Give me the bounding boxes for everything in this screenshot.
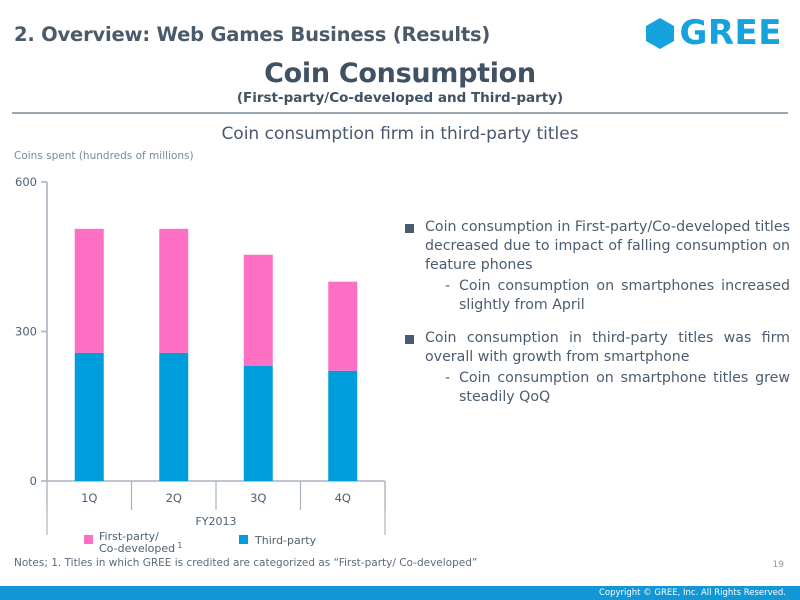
sub-bullet-item: - Coin consumption on smartphone titles … <box>445 369 790 407</box>
svg-text:600: 600 <box>15 175 37 189</box>
footnote-text: Notes; 1. Titles in which GREE is credit… <box>14 557 477 569</box>
hexagon-icon <box>645 17 675 50</box>
bullet-group-2: Coin consumption in third-party titles w… <box>405 329 790 407</box>
coin-consumption-chart: 03006001Q2Q3Q4QFY2013First-party/Co-deve… <box>0 0 420 560</box>
dash-bullet-icon: - <box>445 277 459 296</box>
square-bullet-icon <box>405 224 414 233</box>
copyright-text: Copyright © GREE, Inc. All Rights Reserv… <box>599 588 786 599</box>
svg-text:1Q: 1Q <box>81 491 97 505</box>
bullet-list: Coin consumption in First-party/Co-devel… <box>405 218 790 421</box>
copyright-bar: Copyright © GREE, Inc. All Rights Reserv… <box>0 586 800 600</box>
page-number: 19 <box>773 560 784 570</box>
bullet-item: Coin consumption in third-party titles w… <box>405 329 790 367</box>
sub-bullet-text: Coin consumption on smartphones increase… <box>459 277 790 315</box>
svg-text:3Q: 3Q <box>250 491 266 505</box>
square-bullet-icon <box>405 335 414 344</box>
gree-logo: GREE <box>645 16 782 50</box>
sub-bullet-text: Coin consumption on smartphone titles gr… <box>459 369 790 407</box>
svg-text:0: 0 <box>30 474 37 488</box>
svg-text:Co-developed 1: Co-developed 1 <box>99 541 183 555</box>
svg-text:300: 300 <box>15 325 37 339</box>
bullet-group-1: Coin consumption in First-party/Co-devel… <box>405 218 790 315</box>
bullet-text: Coin consumption in third-party titles w… <box>425 329 790 367</box>
slide: 2. Overview: Web Games Business (Results… <box>0 0 800 600</box>
sub-bullet-item: - Coin consumption on smartphones increa… <box>445 277 790 315</box>
bullet-text: Coin consumption in First-party/Co-devel… <box>425 218 790 275</box>
dash-bullet-icon: - <box>445 369 459 388</box>
svg-text:4Q: 4Q <box>335 491 351 505</box>
svg-text:Third-party: Third-party <box>254 534 317 547</box>
svg-text:2Q: 2Q <box>166 491 182 505</box>
svg-text:FY2013: FY2013 <box>195 515 236 528</box>
logo-wordmark: GREE <box>679 16 782 50</box>
bullet-item: Coin consumption in First-party/Co-devel… <box>405 218 790 275</box>
